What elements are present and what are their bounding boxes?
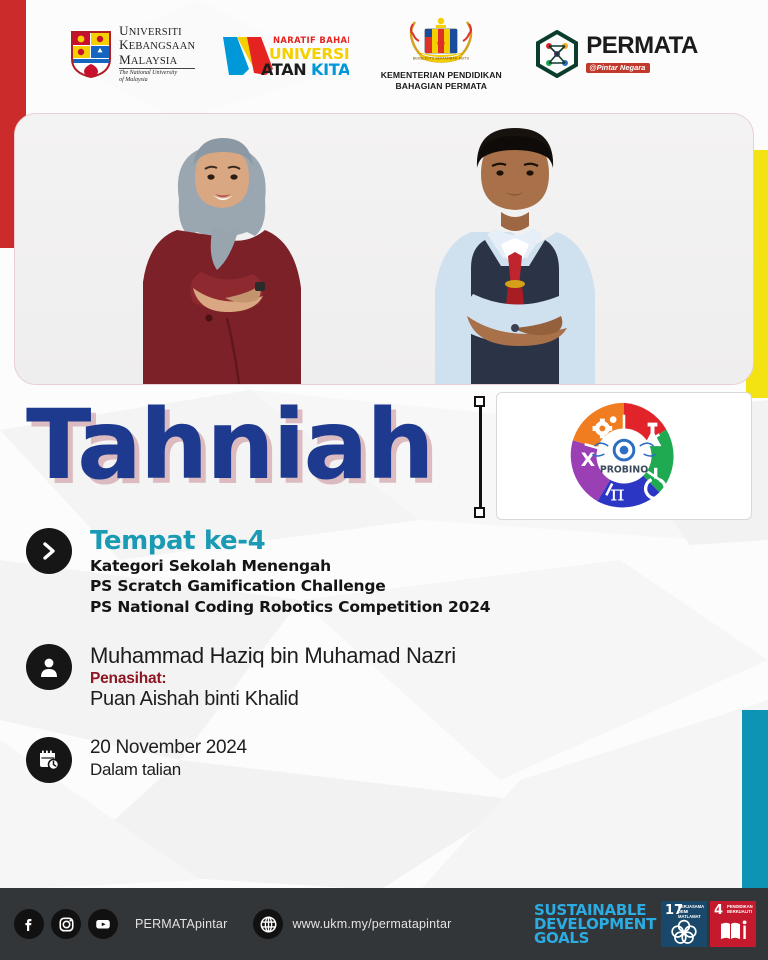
sdg-wordmark: SUSTAINABLE DEVELOPMENT GOALS [534,903,656,946]
ukm-shield-icon [70,29,112,79]
achievement-category: Kategori Sekolah Menengah [90,557,490,577]
selection-handle-bottom[interactable] [474,507,485,518]
page-title: Tahniah [26,398,433,492]
achievement-event-2: PS National Coding Robotics Competition … [90,598,490,618]
calendar-clock-icon [26,737,72,783]
permata-wordmark: PERMATA [586,34,698,58]
svg-text:X: X [581,450,596,471]
info-section: Tempat ke-4 Kategori Sekolah Menengah PS… [26,528,716,783]
ministry-line-2: BAHAGIAN PERMATA [375,81,507,92]
ukm-line1-cap: U [119,23,129,38]
student-photo [419,116,609,384]
sdg-block: SUSTAINABLE DEVELOPMENT GOALS 17 KERJASA… [534,901,756,947]
sdg-goal-4: 4 PENDIDIKAN BERKUALITI [710,901,756,947]
social-handle: PERMATApintar [135,917,227,931]
advisor-name: Puan Aishah binti Khalid [90,687,456,711]
social-links: PERMATApintar [14,909,227,939]
ukm-tagline-2: of Malaysia [119,77,195,84]
poster-canvas: UNIVERSITI KEBANGSAAN MALAYSIA The Natio… [0,0,768,960]
youtube-icon[interactable] [88,909,118,939]
website-link[interactable]: www.ukm.my/permatapintar [253,909,451,939]
partnership-rings-icon [670,918,698,944]
accent-bar-teal [742,710,768,890]
ukm-tagline-1: The National University [119,70,195,77]
probino-wheel-icon: π X PROBINO [565,397,683,515]
svg-text:KITA: KITA [311,60,349,79]
globe-icon[interactable] [253,909,283,939]
advisor-label: Penasihat: [90,670,456,688]
instagram-icon[interactable] [51,909,81,939]
ukm-line3-cap: M [119,52,131,67]
malaysia-coat-of-arms-icon: BERSEKUTU BERTAMBAH MUTU [403,16,479,68]
sdg-goal-tiles: 17 KERJASAMA DEMI MATLAMAT [661,901,756,947]
event-mode: Dalam talian [90,760,247,780]
ministry-logo: BERSEKUTU BERTAMBAH MUTU KEMENTERIAN PEN… [375,16,507,91]
selection-handle-top[interactable] [474,396,485,407]
website-url: www.ukm.my/permatapintar [292,917,451,931]
sdg-line-3: GOALS [534,931,656,945]
svg-text:ATAN: ATAN [261,60,306,79]
facebook-icon[interactable] [14,909,44,939]
footer-bar: PERMATApintar www.ukm.my/permatapintar S… [0,888,768,960]
ukm-line2: EBANGSAAN [129,41,196,52]
headline-block: Tahniah [26,398,433,492]
probino-center-label: PROBINO [600,465,648,476]
permata-logo: PERMATA @Pintar Negara [533,30,698,78]
ministry-line-1: KEMENTERIAN PENDIDIKAN [375,70,507,81]
ukm-line2-cap: K [119,37,129,52]
achievement-row: Tempat ke-4 Kategori Sekolah Menengah PS… [26,528,716,618]
sdg-goal-4-number: 4 [714,904,723,917]
permata-tagline: @Pintar Negara [586,63,650,73]
ukm-crest-logo: UNIVERSITI KEBANGSAAN MALAYSIA The Natio… [70,24,195,84]
person-icon [26,644,72,690]
sdg-goal-17: 17 KERJASAMA DEMI MATLAMAT [661,901,707,947]
svg-text:BERSEKUTU BERTAMBAH MUTU: BERSEKUTU BERTAMBAH MUTU [413,57,470,61]
svg-text:NARATIF BAHARU UKM: NARATIF BAHARU UKM [273,35,349,45]
selection-line [479,401,482,513]
selection-handle-bar[interactable] [474,396,486,518]
ukm-line1: NIVERSITI [129,27,182,38]
achievement-event-1: PS Scratch Gamification Challenge [90,577,490,597]
sdg-goal-4-title-2: BERKUALITI [727,909,752,914]
participant-name: Muhammad Haziq bin Muhamad Nazri [90,644,456,669]
permata-hexagon-icon [533,30,581,78]
chevron-right-icon [26,528,72,574]
event-date: 20 November 2024 [90,737,247,759]
probino-logo-card: π X PROBINO [496,392,752,520]
photo-panel [14,113,754,385]
open-book-icon [718,918,748,944]
advisor-photo [127,122,317,384]
narratif-baharu-logo: NARATIF BAHARU UKM UNIVERSITI ATAN KITA [221,29,349,79]
event-datetime-row: 20 November 2024 Dalam talian [26,737,716,783]
ukm-line3: ALAYSIA [131,56,178,67]
svg-text:π: π [610,481,624,506]
participant-row: Muhammad Haziq bin Muhamad Nazri Penasih… [26,644,716,711]
placement-title: Tempat ke-4 [90,528,490,556]
logo-strip: UNIVERSITI KEBANGSAAN MALAYSIA The Natio… [0,0,768,108]
